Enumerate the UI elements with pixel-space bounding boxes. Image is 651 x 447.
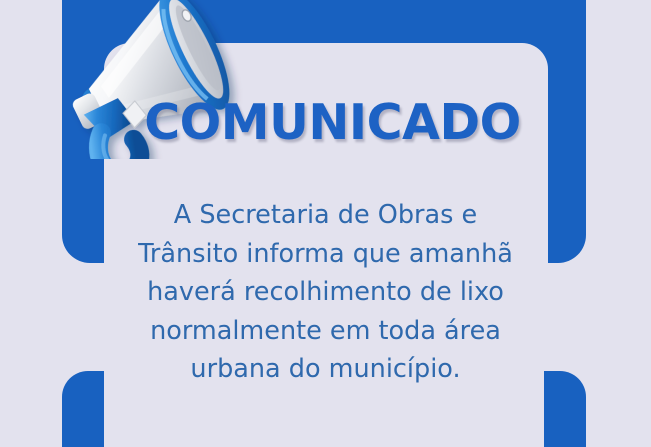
announcement-poster: COMUNICADO A Secretaria de Obras e Trâns… xyxy=(0,0,651,447)
announcement-body: A Secretaria de Obras e Trânsito informa… xyxy=(105,196,546,389)
body-line: haverá recolhimento de lixo xyxy=(105,273,546,312)
page-title: COMUNICADO xyxy=(0,98,651,147)
body-line: Trânsito informa que amanhã xyxy=(105,235,546,274)
body-line: normalmente em toda área xyxy=(105,312,546,351)
body-line: urbana do município. xyxy=(105,350,546,389)
frame-bottom-right-bar xyxy=(544,371,586,447)
frame-bottom-left-bar xyxy=(62,371,104,447)
body-line: A Secretaria de Obras e xyxy=(105,196,546,235)
